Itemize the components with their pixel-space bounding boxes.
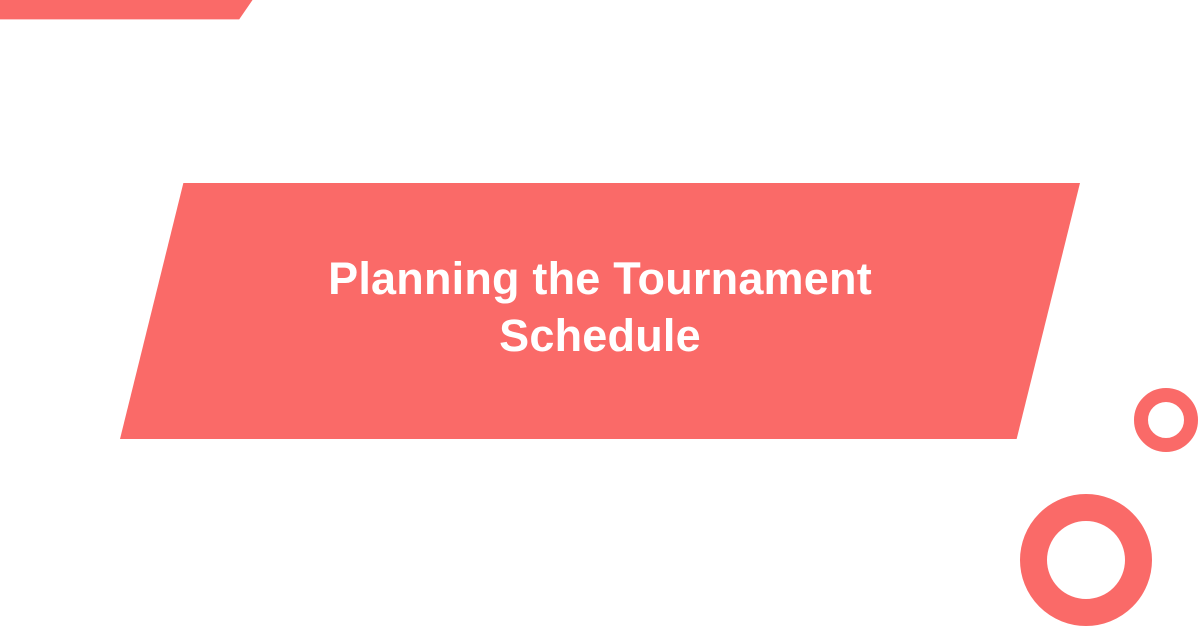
page-title: Planning the Tournament Schedule xyxy=(260,251,940,370)
small-ring-icon xyxy=(1134,388,1198,452)
banner-canvas: Planning the Tournament Schedule xyxy=(0,0,1200,630)
title-banner: Planning the Tournament Schedule xyxy=(120,183,1080,439)
large-ring-icon xyxy=(1020,494,1152,626)
